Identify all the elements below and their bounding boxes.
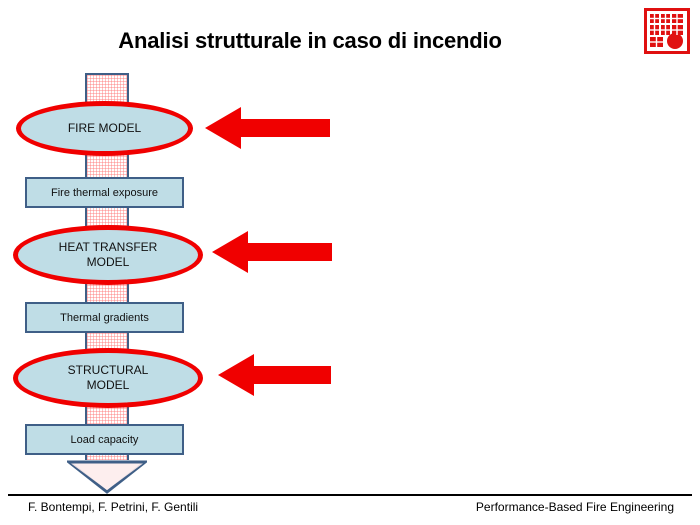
pointer-arrow-structural-model-icon — [218, 352, 331, 398]
red-seal-stamp-logo — [644, 8, 690, 54]
node-structural-model[interactable]: STRUCTURAL MODEL — [13, 348, 203, 408]
node-thermal-gradients[interactable]: Thermal gradients — [25, 302, 184, 333]
node-fire-thermal-exposure[interactable]: Fire thermal exposure — [25, 177, 184, 208]
node-heat-transfer-model-label: HEAT TRANSFER MODEL — [48, 240, 168, 270]
node-load-capacity[interactable]: Load capacity — [25, 424, 184, 455]
node-fire-thermal-exposure-label: Fire thermal exposure — [51, 187, 158, 199]
page-title: Analisi strutturale in caso di incendio — [0, 28, 620, 54]
footer-authors: F. Bontempi, F. Petrini, F. Gentili — [28, 500, 198, 514]
node-load-capacity-label: Load capacity — [71, 434, 139, 446]
footer-divider — [8, 494, 692, 496]
node-heat-transfer-model[interactable]: HEAT TRANSFER MODEL — [13, 225, 203, 285]
node-thermal-gradients-label: Thermal gradients — [60, 312, 149, 324]
node-structural-model-label: STRUCTURAL MODEL — [53, 363, 163, 393]
pointer-arrow-fire-model-icon — [205, 105, 330, 151]
node-fire-model[interactable]: FIRE MODEL — [16, 101, 193, 156]
footer-topic: Performance-Based Fire Engineering — [476, 500, 674, 514]
node-fire-model-label: FIRE MODEL — [68, 121, 141, 136]
process-flow-diagram: FIRE MODEL Fire thermal exposure HEAT TR… — [0, 60, 400, 480]
pointer-arrow-heat-transfer-model-icon — [212, 229, 332, 275]
